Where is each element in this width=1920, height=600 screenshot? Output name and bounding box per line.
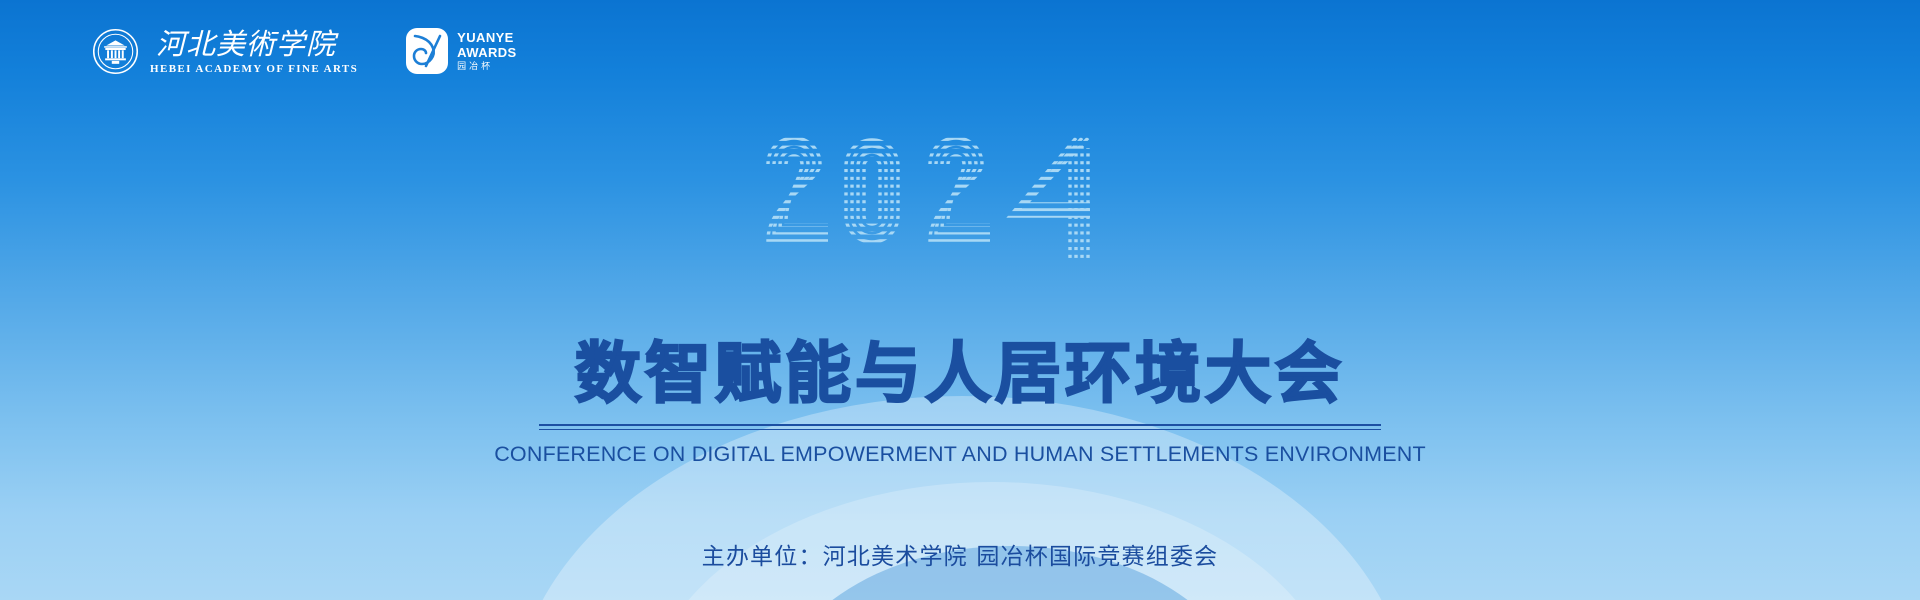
yuanye-y-mark-icon: [406, 28, 448, 74]
yuanye-line-1: YUANYE: [457, 31, 516, 44]
conference-title-cn: 数智赋能与人居环境大会: [575, 340, 1345, 407]
year-graphic: [0, 130, 1920, 270]
year-2024-icon: [760, 130, 1160, 270]
conference-title-en: CONFERENCE ON DIGITAL EMPOWERMENT AND HU…: [494, 442, 1426, 467]
title-divider-line-2: [539, 429, 1381, 430]
title-divider-line-1: [539, 424, 1381, 426]
title-divider: [539, 424, 1381, 430]
yuanye-line-2: AWARDS: [457, 46, 516, 59]
hebei-academy-name-cn: 河北美術学院: [156, 27, 352, 61]
yuanye-line-3: 园冶杯: [457, 62, 516, 71]
conference-banner: 河北美術学院 HEBEI ACADEMY OF FINE ARTS YUANYE…: [0, 0, 1920, 600]
yuanye-wordmark: YUANYE AWARDS 园冶杯: [457, 31, 516, 71]
university-seal-icon: [92, 28, 139, 75]
logo-hebei-academy[interactable]: 河北美術学院 HEBEI ACADEMY OF FINE ARTS: [92, 27, 358, 75]
svg-text:河北美術学院: 河北美術学院: [156, 27, 339, 61]
organizer-line: 主办单位：河北美术学院 园冶杯国际竞赛组委会: [0, 537, 1920, 571]
logo-row: 河北美術学院 HEBEI ACADEMY OF FINE ARTS YUANYE…: [92, 27, 517, 75]
title-block: 数智赋能与人居环境大会 CONFERENCE ON DIGITAL EMPOWE…: [0, 340, 1920, 467]
logo-yuanye-awards[interactable]: YUANYE AWARDS 园冶杯: [406, 28, 516, 74]
hebei-academy-wordmark: 河北美術学院 HEBEI ACADEMY OF FINE ARTS: [150, 27, 358, 75]
hebei-academy-name-en: HEBEI ACADEMY OF FINE ARTS: [150, 64, 358, 75]
